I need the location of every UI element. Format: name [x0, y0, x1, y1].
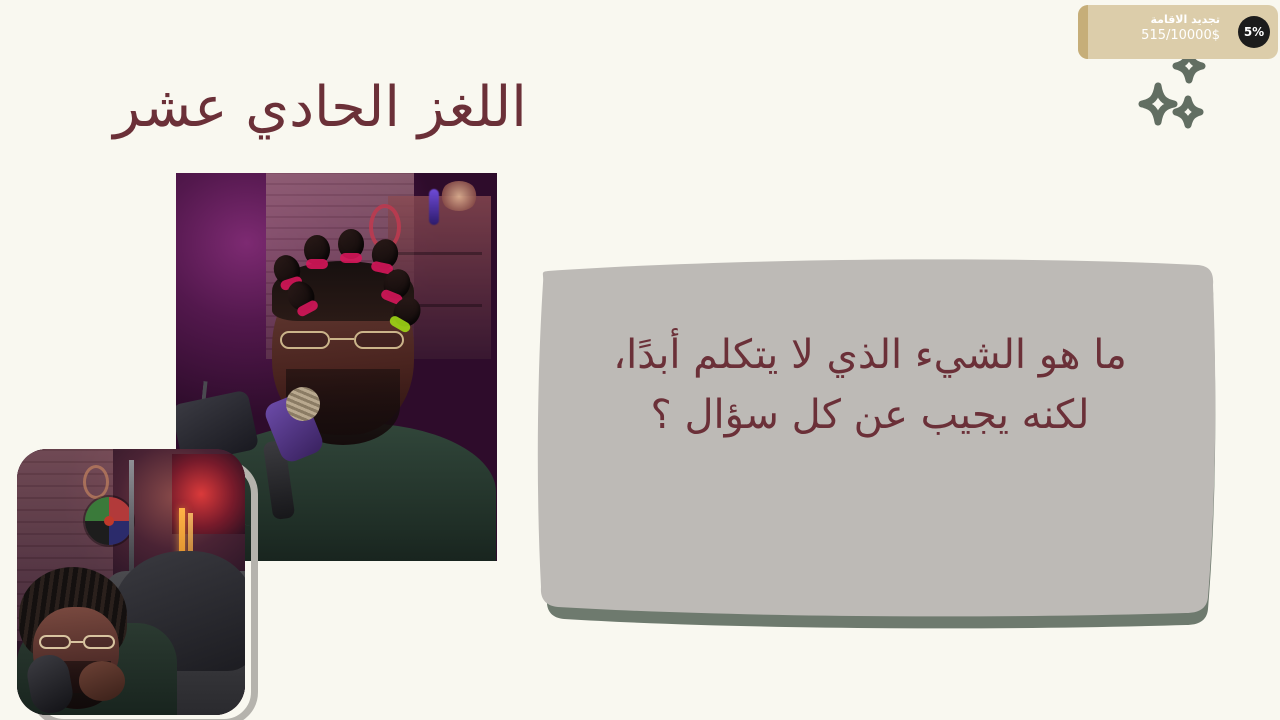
- webcam-overlay: [17, 449, 245, 715]
- goal-label: تجديد الاقامة: [1141, 13, 1220, 27]
- glasses-bridge: [71, 641, 83, 643]
- glasses-lens-right: [83, 635, 115, 649]
- main-video-lamp: [440, 181, 478, 211]
- goal-text-group: تجديد الاقامة 515/10000$: [1141, 13, 1220, 45]
- webcam-person-glasses: [39, 635, 115, 649]
- dartboard-icon: [85, 497, 133, 545]
- hair-knot-icon: [338, 229, 364, 259]
- goal-percent-badge: 5%: [1238, 16, 1270, 48]
- webcam-person-hand: [79, 661, 125, 701]
- glasses-bridge: [330, 338, 354, 340]
- hair-knot-icon: [304, 235, 330, 265]
- donation-goal-badge[interactable]: تجديد الاقامة 515/10000$ 5%: [1078, 5, 1278, 59]
- glasses-lens-left: [39, 635, 71, 649]
- main-video-neon-light: [429, 189, 439, 225]
- main-video-person-glasses: [280, 331, 404, 349]
- sparkle-decoration-group: [1118, 52, 1214, 134]
- webcam-ring-decor: [83, 465, 109, 499]
- glasses-lens-left: [280, 331, 330, 349]
- glasses-lens-right: [354, 331, 404, 349]
- page-title: اللغز الحادي عشر: [0, 76, 640, 140]
- riddle-question-text: ما هو الشيء الذي لا يتكلم أبدًا، لكنه يج…: [578, 325, 1162, 445]
- riddle-card-container: ما هو الشيء الذي لا يتكلم أبدًا، لكنه يج…: [520, 245, 1220, 635]
- goal-progress-fill: [1078, 5, 1088, 59]
- stream-overlay-canvas: اللغز الحادي عشر: [0, 0, 1280, 720]
- webcam-mic-pole: [129, 460, 134, 577]
- goal-amount: 515/10000$: [1141, 27, 1220, 45]
